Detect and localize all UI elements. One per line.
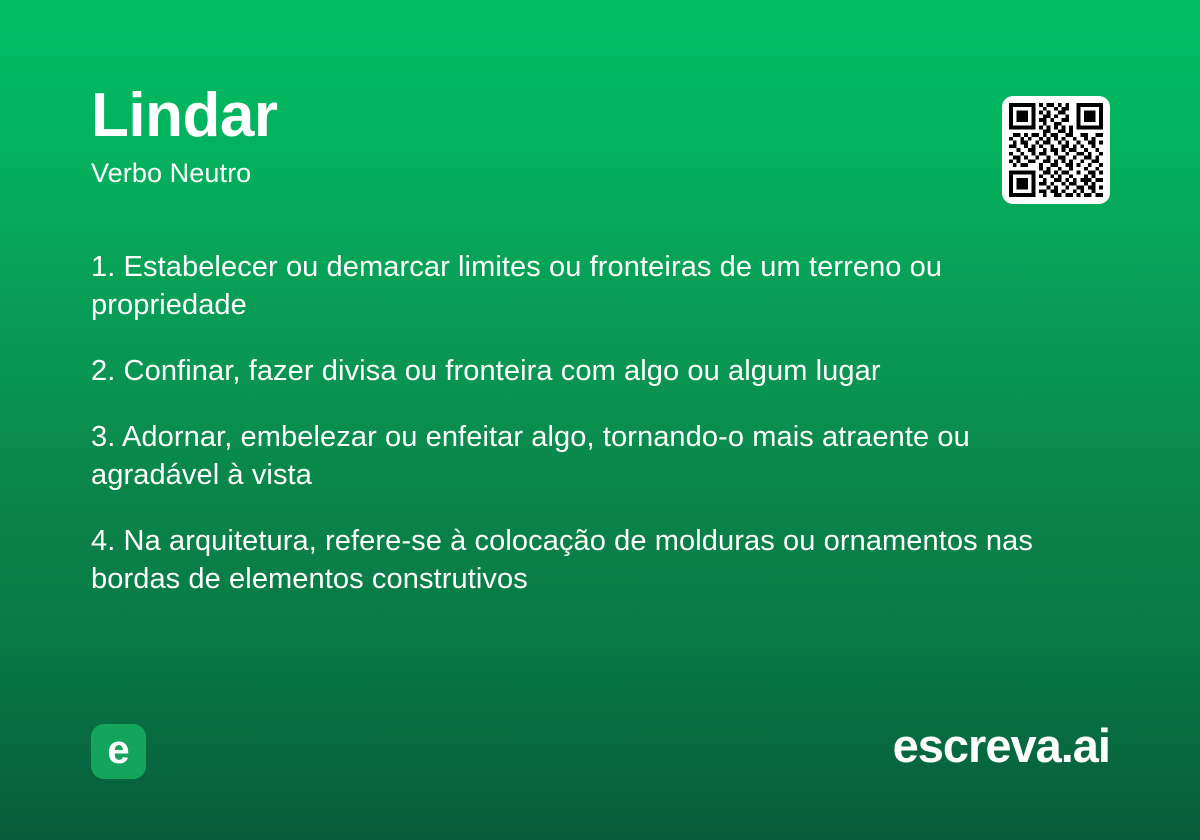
brand-logo-letter: e bbox=[107, 730, 129, 770]
qr-code-icon bbox=[1009, 103, 1103, 197]
definition-list: 1. Estabelecer ou demarcar limites ou fr… bbox=[91, 248, 1105, 598]
definition-item: 3. Adornar, embelezar ou enfeitar algo, … bbox=[91, 418, 1105, 494]
definition-item: 1. Estabelecer ou demarcar limites ou fr… bbox=[91, 248, 1105, 324]
page-title: Lindar bbox=[91, 84, 1103, 147]
card-header: Lindar Verbo Neutro bbox=[91, 84, 1103, 189]
word-class-label: Verbo Neutro bbox=[91, 159, 1103, 189]
brand-logo-mark: e bbox=[91, 724, 146, 779]
dictionary-card: Lindar Verbo Neutro bbox=[0, 0, 1200, 840]
brand-wordmark: escreva.ai bbox=[893, 722, 1110, 769]
definition-item: 4. Na arquitetura, refere-se à colocação… bbox=[91, 522, 1105, 598]
definition-item: 2. Confinar, fazer divisa ou fronteira c… bbox=[91, 352, 1105, 390]
qr-code-panel[interactable] bbox=[1002, 96, 1110, 204]
